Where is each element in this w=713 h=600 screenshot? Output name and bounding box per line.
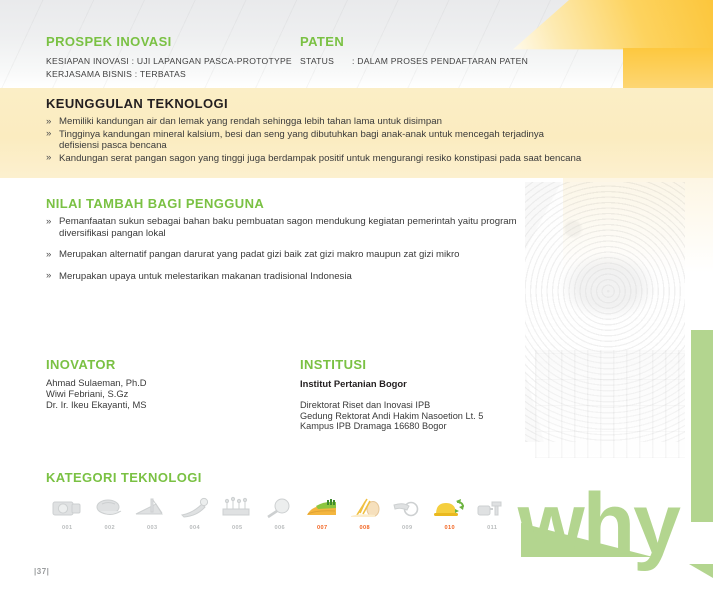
kategori-icon-011[interactable]: 011 [471, 493, 514, 531]
person-name: Dr. Ir. Ikeu Ekayanti, MS [46, 400, 147, 411]
institusi-address: Direktorat Riset dan Inovasi IPB Gedung … [300, 400, 483, 432]
prospek-line: KERJASAMA BISNIS : TERBATAS [46, 68, 292, 81]
list-item-text: Merupakan upaya untuk melestarikan makan… [59, 271, 352, 282]
paten-status-key: STATUS [300, 55, 352, 68]
inovator-people: Ahmad Sulaeman, Ph.D Wiwi Febriani, S.Gz… [46, 378, 147, 410]
keunggulan-list: » Memiliki kandungan air dan lemak yang … [46, 116, 586, 164]
page-content: PROSPEK INOVASI KESIAPAN INOVASI : UJI L… [0, 0, 713, 600]
bullet-glyph-icon: » [46, 128, 51, 140]
kategori-icon-code: 011 [471, 525, 514, 531]
list-item-text: Kandungan serat pangan sagon yang tinggi… [59, 153, 581, 164]
institusi-block: INSTITUSI Institut Pertanian Bogor Direk… [300, 357, 483, 432]
kategori-icon-code: 008 [344, 525, 387, 531]
address-line: Kampus IPB Dramaga 16680 Bogor [300, 421, 483, 432]
prospek-inovasi-block: PROSPEK INOVASI KESIAPAN INOVASI : UJI L… [46, 34, 292, 81]
bullet-glyph-icon: » [46, 116, 51, 128]
list-item: » Pemanfaatan sukun sebagai bahan baku p… [46, 216, 556, 239]
factory-icon [217, 493, 257, 523]
page-number: |37| [34, 567, 49, 576]
bullet-glyph-icon: » [46, 216, 51, 228]
inovator-block: INOVATOR Ahmad Sulaeman, Ph.D Wiwi Febri… [46, 357, 147, 410]
kategori-icon-004[interactable]: 004 [174, 493, 217, 531]
brain-icon [90, 493, 130, 523]
paten-block: PATEN STATUS : DALAM PROSES PENDAFTARAN … [300, 34, 528, 68]
kategori-icon-007[interactable]: 007 [301, 493, 344, 531]
kategori-icon-code: 005 [216, 525, 259, 531]
list-item: » Kandungan serat pangan sagon yang ting… [46, 153, 586, 165]
inovator-title: INOVATOR [46, 357, 147, 372]
keunggulan-teknologi-block: KEUNGGULAN TEKNOLOGI » Memiliki kandunga… [46, 96, 586, 165]
kategori-icon-code: 004 [174, 525, 217, 531]
kategori-icon-row: 001 002 003 [46, 493, 516, 531]
kategori-icon-001[interactable]: 001 [46, 493, 89, 531]
paten-status-value: : DALAM PROSES PENDAFTARAN PATEN [352, 55, 528, 68]
nilai-tambah-block: NILAI TAMBAH BAGI PENGGUNA » Pemanfaatan… [46, 196, 556, 292]
kategori-icon-code: 001 [46, 525, 89, 531]
list-item-text: Memiliki kandungan air dan lemak yang re… [59, 116, 442, 127]
person-name: Wiwi Febriani, S.Gz [46, 389, 147, 400]
kategori-icon-code: 003 [131, 525, 174, 531]
farm-field-icon [302, 493, 342, 523]
list-item-text: Tingginya kandungan mineral kalsium, bes… [59, 129, 544, 152]
paten-title: PATEN [300, 34, 528, 49]
hardhat-recycle-icon [430, 493, 470, 523]
kategori-icon-002[interactable]: 002 [89, 493, 132, 531]
kategori-icon-010[interactable]: 010 [429, 493, 472, 531]
list-item-text: Merupakan alternatif pangan darurat yang… [59, 249, 460, 260]
prospek-line: KESIAPAN INOVASI : UJI LAPANGAN PASCA-PR… [46, 55, 292, 68]
list-item: » Merupakan upaya untuk melestarikan mak… [46, 271, 556, 283]
kategori-icon-008[interactable]: 008 [344, 493, 387, 531]
kategori-icon-code: 009 [386, 525, 429, 531]
nilai-tambah-title: NILAI TAMBAH BAGI PENGGUNA [46, 196, 556, 211]
grain-icon [345, 493, 385, 523]
magnifier-icon [260, 493, 300, 523]
keunggulan-title: KEUNGGULAN TEKNOLOGI [46, 96, 586, 111]
kategori-title: KATEGORI TEKNOLOGI [46, 470, 516, 485]
institusi-name: Institut Pertanian Bogor [300, 378, 483, 389]
nilai-tambah-list: » Pemanfaatan sukun sebagai bahan baku p… [46, 216, 556, 282]
list-item: » Tingginya kandungan mineral kalsium, b… [46, 129, 586, 152]
list-item: » Merupakan alternatif pangan darurat ya… [46, 249, 556, 261]
kategori-icon-009[interactable]: 009 [386, 493, 429, 531]
bullet-glyph-icon: » [46, 270, 51, 282]
address-line: Direktorat Riset dan Inovasi IPB [300, 400, 483, 411]
institusi-title: INSTITUSI [300, 357, 483, 372]
address-line: Gedung Rektorat Andi Hakim Nasoetion Lt.… [300, 411, 483, 422]
bullet-glyph-icon: » [46, 152, 51, 164]
kategori-icon-code: 007 [301, 525, 344, 531]
list-item: » Memiliki kandungan air dan lemak yang … [46, 116, 586, 128]
kategori-icon-003[interactable]: 003 [131, 493, 174, 531]
prospek-title: PROSPEK INOVASI [46, 34, 292, 49]
machine-icon [472, 493, 512, 523]
bridge-icon [132, 493, 172, 523]
rocket-icon [175, 493, 215, 523]
kategori-icon-code: 010 [429, 525, 472, 531]
kategori-icon-006[interactable]: 006 [259, 493, 302, 531]
list-item-text: Pemanfaatan sukun sebagai bahan baku pem… [59, 216, 517, 239]
kategori-teknologi-block: KATEGORI TEKNOLOGI 001 002 [46, 470, 516, 531]
gear-icon [387, 493, 427, 523]
kategori-icon-code: 006 [259, 525, 302, 531]
kategori-icon-code: 002 [89, 525, 132, 531]
bullet-glyph-icon: » [46, 249, 51, 261]
camera-icon [47, 493, 87, 523]
kategori-icon-005[interactable]: 005 [216, 493, 259, 531]
